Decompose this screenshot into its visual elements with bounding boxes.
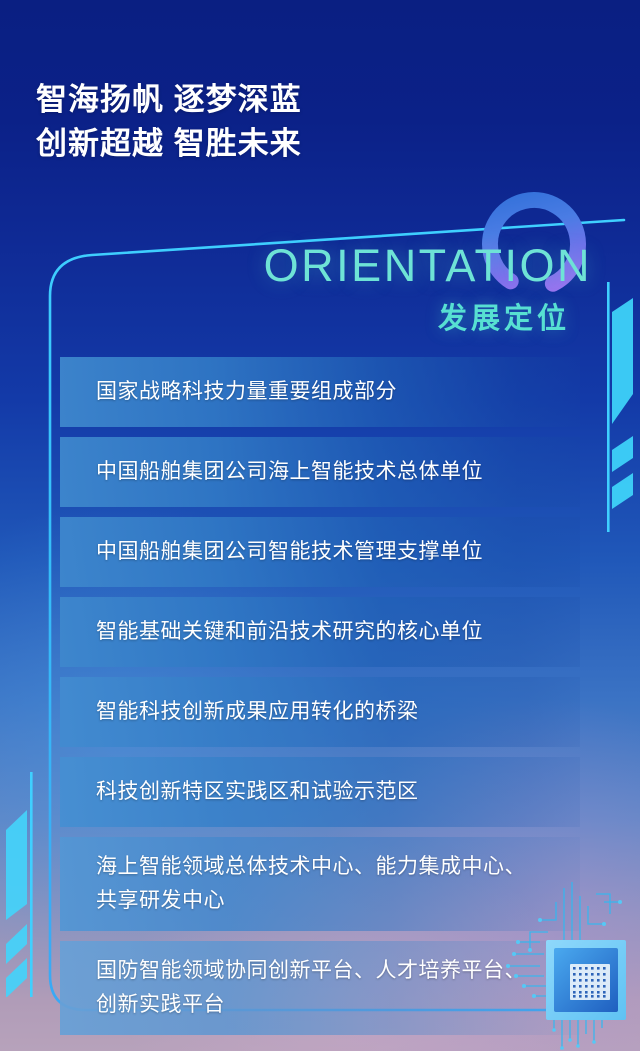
list-item[interactable]: 国家战略科技力量重要组成部分 [60,357,580,427]
headline: 智海扬帆 逐梦深蓝 创新超越 智胜未来 [36,78,556,166]
list-item[interactable]: 中国船舶集团公司海上智能技术总体单位 [60,437,580,507]
list-item[interactable]: 科技创新特区实践区和试验示范区 [60,757,580,827]
list-item-text: 中国船舶集团公司海上智能技术总体单位 [96,455,483,489]
headline-line-1: 智海扬帆 逐梦深蓝 [36,82,302,117]
list-item-text: 中国船舶集团公司智能技术管理支撑单位 [96,535,483,569]
list-item[interactable]: 智能基础关键和前沿技术研究的核心单位 [60,597,580,667]
list-item-text: 智能基础关键和前沿技术研究的核心单位 [96,615,483,649]
list-item-text: 国防智能领域协同创新平台、人才培养平台、 创新实践平台 [96,954,526,1022]
decoration-stripes-right [586,282,640,532]
headline-line-2: 创新超越 智胜未来 [36,122,556,166]
cpu-chip-icon [500,880,640,1051]
section-title-english: ORIENTATION [0,240,592,292]
decoration-stripes-left [0,772,54,997]
list-item-text: 海上智能领域总体技术中心、能力集成中心、 共享研发中心 [96,850,526,918]
section-title-chinese: 发展定位 [0,300,570,338]
list-item-text: 科技创新特区实践区和试验示范区 [96,775,419,809]
list-item-text: 智能科技创新成果应用转化的桥梁 [96,695,419,729]
list-item-text: 国家战略科技力量重要组成部分 [96,375,397,409]
poster-root: 智海扬帆 逐梦深蓝 创新超越 智胜未来 [0,0,640,1051]
list-item[interactable]: 中国船舶集团公司智能技术管理支撑单位 [60,517,580,587]
list-item[interactable]: 智能科技创新成果应用转化的桥梁 [60,677,580,747]
